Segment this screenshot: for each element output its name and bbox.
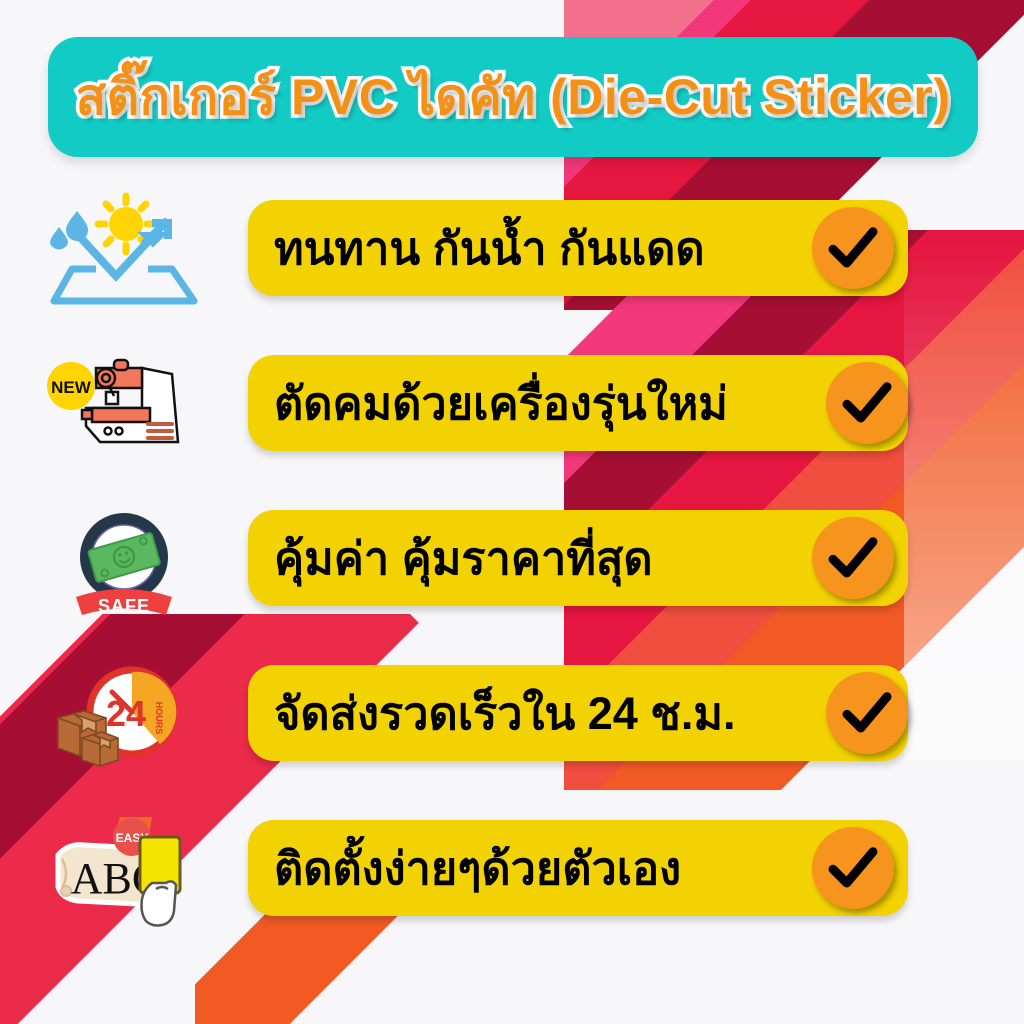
money-safe-icon: SAFE	[44, 501, 204, 621]
feature-row: NEW ตัดคมด้วยเครื่องรุ่นใหม่	[0, 341, 1024, 496]
cutting-machine-icon: NEW	[44, 346, 204, 466]
feature-row: ทนทาน กันน้ำ กันแดด	[0, 186, 1024, 341]
check-circle-icon	[826, 362, 908, 444]
feature-pill[interactable]: ตัดคมด้วยเครื่องรุ่นใหม่	[248, 355, 908, 451]
poster-canvas: สติ๊กเกอร์ PVC ไดคัท (Die-Cut Sticker)	[0, 0, 1024, 1024]
header-banner: สติ๊กเกอร์ PVC ไดคัท (Die-Cut Sticker)	[48, 37, 978, 157]
hours-badge-sub: HOURS	[154, 702, 164, 735]
new-badge-label: NEW	[51, 378, 92, 397]
feature-row: SAFE คุ้มค่า คุ้มราคาที่สุด	[0, 496, 1024, 651]
check-circle-icon	[812, 827, 894, 909]
easy-diy-abc-icon: ABC EASY	[44, 811, 204, 931]
feature-pill[interactable]: ติดตั้งง่ายๆด้วยตัวเอง	[248, 820, 908, 916]
feature-pill[interactable]: จัดส่งรวดเร็วใน 24 ช.ม.	[248, 665, 908, 761]
feature-icon-cell	[0, 186, 248, 316]
check-circle-icon	[812, 207, 894, 289]
water-sun-resistant-icon	[44, 191, 204, 311]
feature-list: ทนทาน กันน้ำ กันแดด	[0, 186, 1024, 961]
delivery-24-hours-icon: 24 HOURS	[44, 656, 204, 776]
check-mark-icon	[837, 683, 897, 743]
feature-text: คุ้มค่า คุ้มราคาที่สุด	[274, 536, 653, 581]
feature-text: ติดตั้งง่ายๆด้วยตัวเอง	[274, 846, 681, 891]
feature-text: จัดส่งรวดเร็วใน 24 ช.ม.	[274, 691, 736, 736]
check-mark-icon	[837, 373, 897, 433]
safe-badge-label: SAFE	[98, 596, 150, 616]
feature-icon-cell: ABC EASY	[0, 806, 248, 936]
feature-icon-cell: SAFE	[0, 496, 248, 626]
feature-text: ทนทาน กันน้ำ กันแดด	[274, 226, 705, 271]
check-circle-icon	[812, 517, 894, 599]
feature-pill[interactable]: ทนทาน กันน้ำ กันแดด	[248, 200, 908, 296]
check-mark-icon	[823, 838, 883, 898]
feature-text: ตัดคมด้วยเครื่องรุ่นใหม่	[274, 381, 728, 426]
feature-icon-cell: 24 HOURS	[0, 651, 248, 781]
page-title: สติ๊กเกอร์ PVC ไดคัท (Die-Cut Sticker)	[58, 71, 969, 124]
feature-pill[interactable]: คุ้มค่า คุ้มราคาที่สุด	[248, 510, 908, 606]
feature-row: 24 HOURS จัดส่งรวดเร็ว	[0, 651, 1024, 806]
check-mark-icon	[823, 218, 883, 278]
hours-badge-label: 24	[106, 693, 146, 734]
feature-row: ABC EASY ติดตั้งง่ายๆด้วยตัวเอง	[0, 806, 1024, 961]
check-circle-icon	[826, 672, 908, 754]
feature-icon-cell: NEW	[0, 341, 248, 471]
check-mark-icon	[823, 528, 883, 588]
